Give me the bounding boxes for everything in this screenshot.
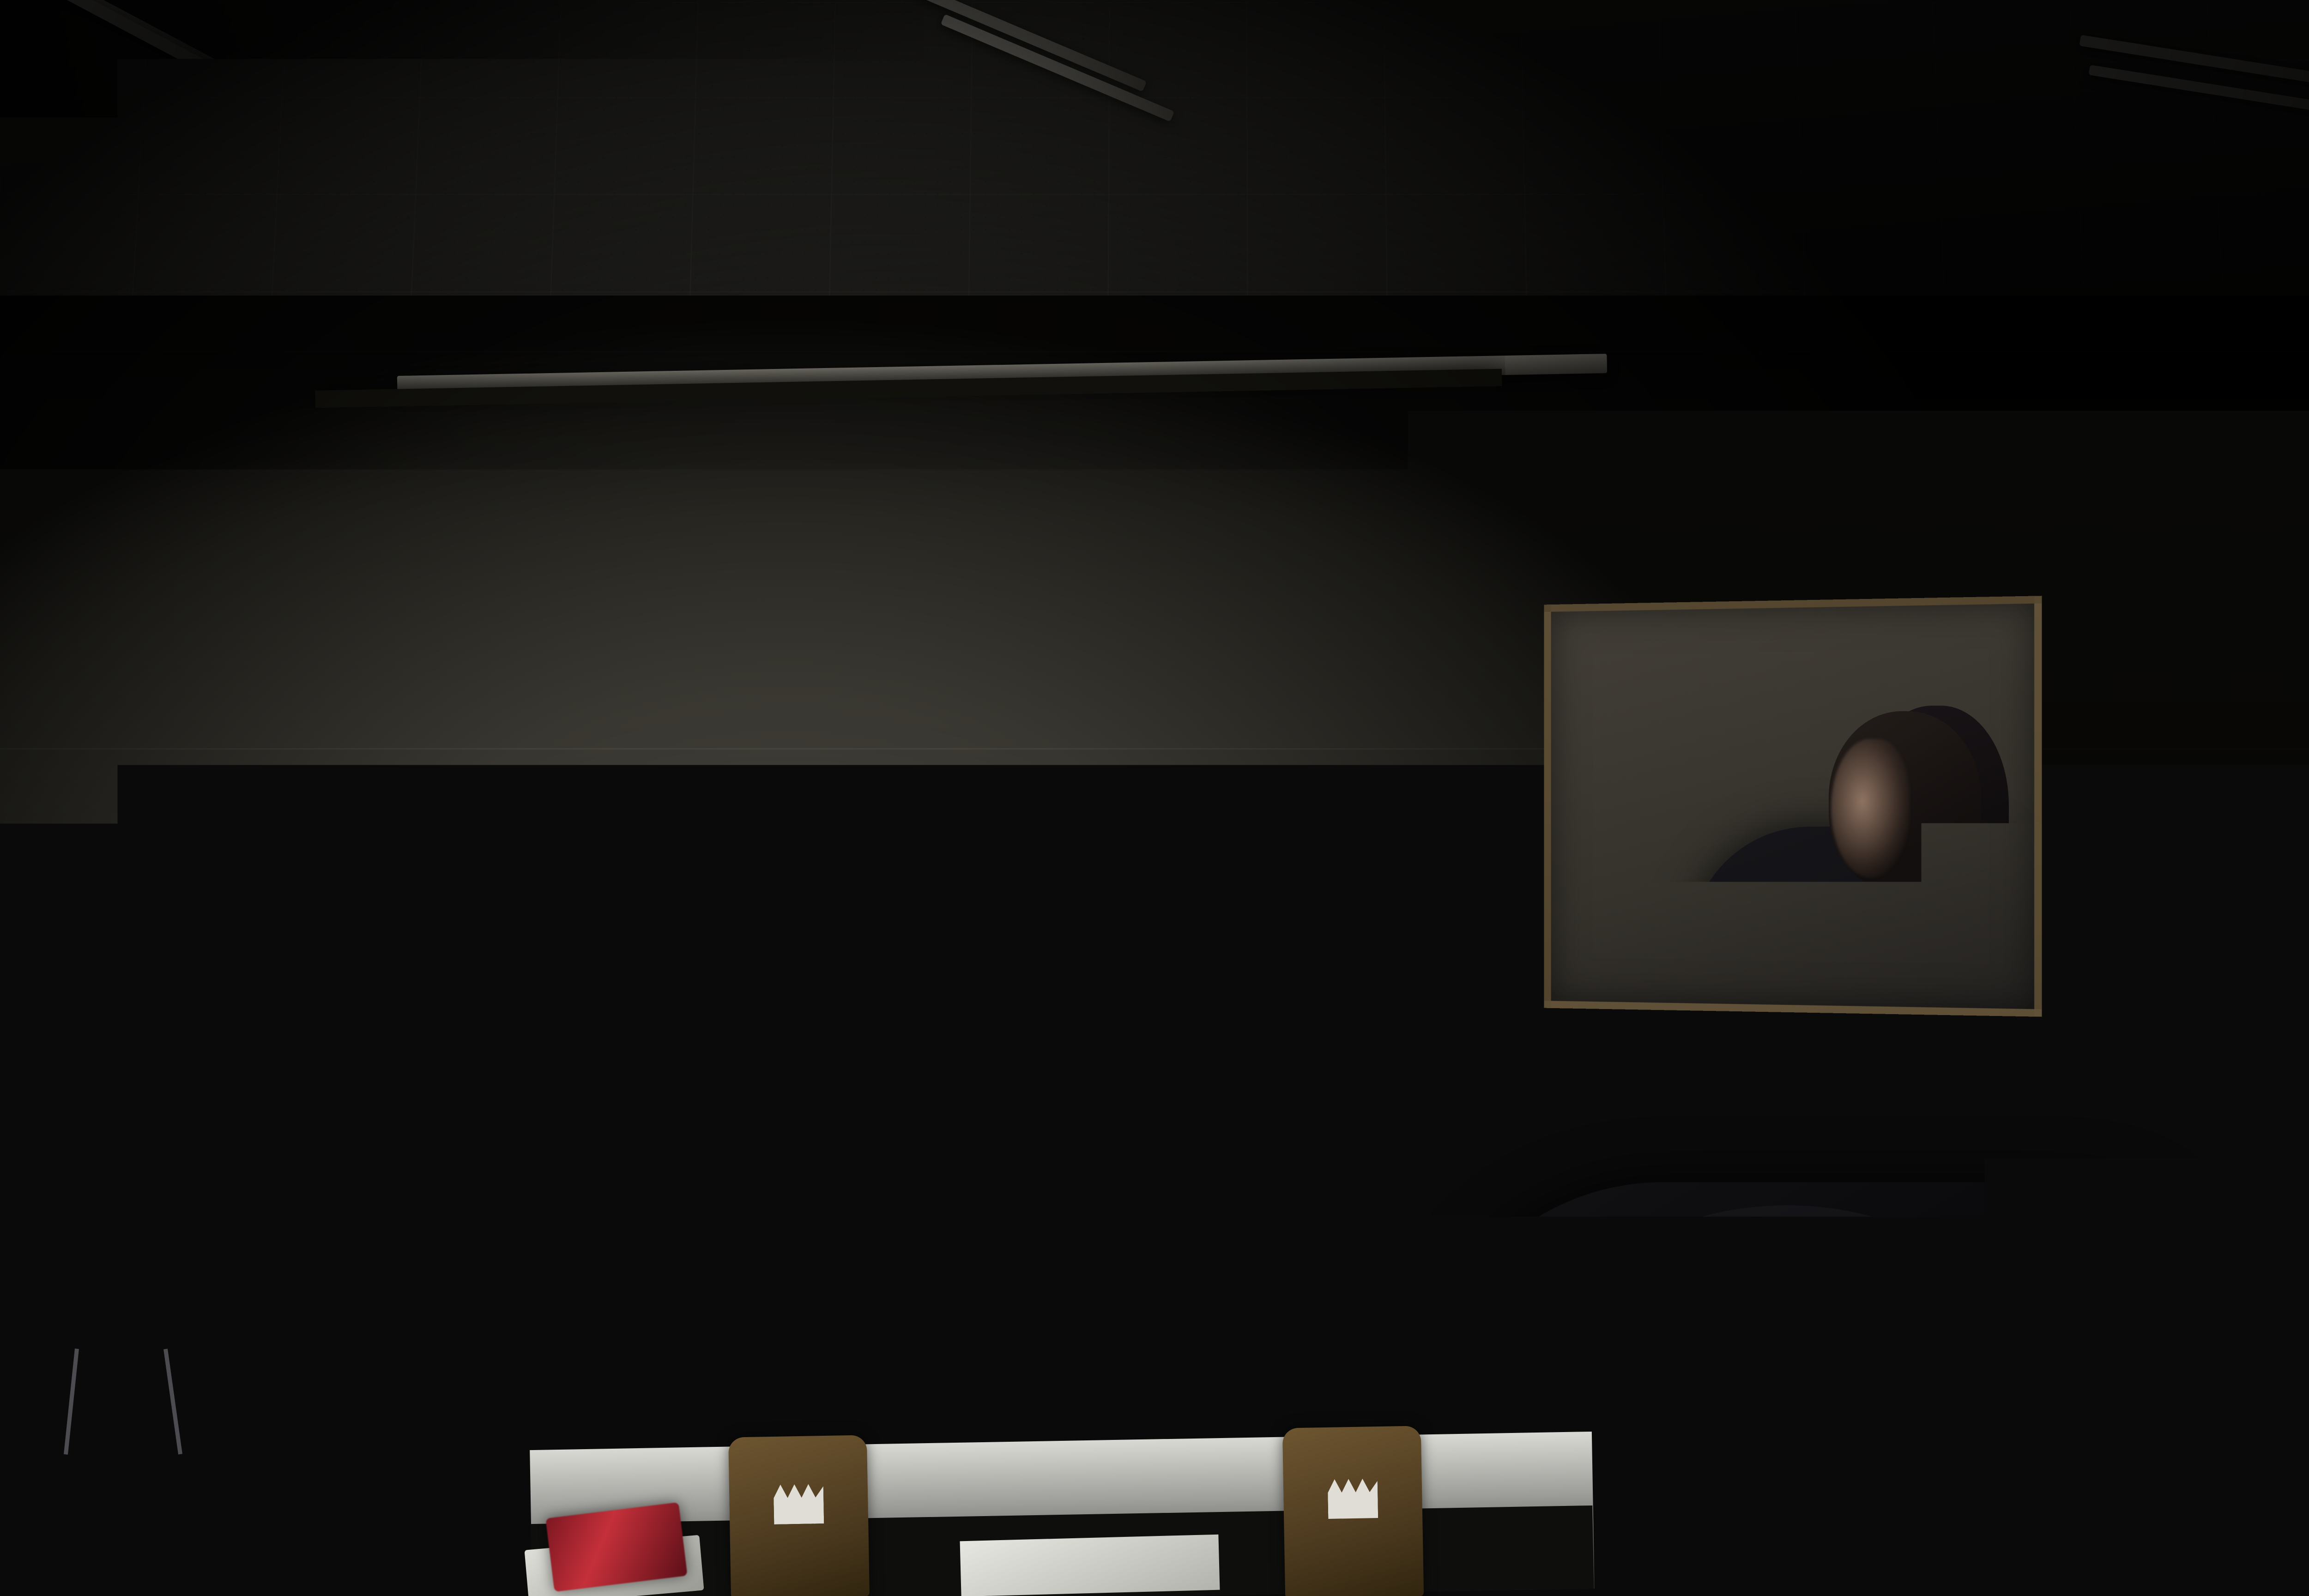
bullet-block: 전체밀도 - 155인/㏊: [947, 610, 1464, 659]
site-plan-drawing: [412, 553, 907, 957]
bullet-heading-label: 차별성: [962, 804, 1006, 825]
bullet-heading-label: 대상지크기: [957, 534, 1029, 555]
screen-surface: 1. 개요 - 대상지현황: [333, 392, 1506, 1278]
slide-subtitle: - 대상지현황: [459, 518, 555, 545]
bullet-heading-label: 전체밀도: [959, 617, 1017, 638]
tree-shape: [818, 1167, 874, 1218]
slide-title: 1. 개요: [412, 489, 472, 516]
chair-handle-cutout: [143, 1478, 193, 1519]
bullet-dot-icon: [948, 685, 958, 695]
chair: [1282, 1426, 1424, 1596]
bullet-dot-icon: [947, 623, 957, 634]
stool: [14, 1325, 208, 1353]
chair-handle-cutout: [1328, 1478, 1378, 1519]
chair-handle-cutout: [774, 1484, 824, 1524]
presenter-face: [1831, 739, 1910, 877]
bullet-dot-icon: [950, 810, 960, 820]
truck-shape: [966, 1192, 996, 1211]
bullet-heading-label: 인접대지현황: [960, 679, 1046, 700]
bullet-block: 인접대지현황 동측 - 강 서측 - 제2종일반주거지역 남측 - 제2종일반주…: [948, 671, 1467, 785]
tree-shape: [1003, 1153, 1096, 1210]
ledge-object: [152, 1059, 231, 1070]
chair: [91, 1426, 246, 1596]
hill-shape: [1144, 1141, 1506, 1263]
document-on-table: [960, 1535, 1220, 1596]
landscape-photo-band: [346, 1104, 1506, 1278]
bullet-block: 대상지크기 1.2KM X 1.2KM 남측 - 4KM: [945, 526, 1463, 598]
slide-bullets: 대상지크기 1.2KM X 1.2KM 남측 - 4KM 전체밀도 - 155인…: [945, 526, 1469, 909]
bullet-block: 차별성 - 저밀도지역 - 생태보건형 환경 친화적 도시 - 보행자중심의도시: [950, 796, 1469, 888]
paper-notes: [1819, 965, 1899, 1057]
projection-screen: 1. 개요 - 대상지현황: [315, 369, 1518, 1296]
riverbank-shape: [346, 1167, 847, 1278]
presentation-slide: 1. 개요 - 대상지현황: [333, 392, 1506, 1278]
chair: [728, 1435, 870, 1596]
lecture-room-photo: 1. 개요 - 대상지현황: [0, 0, 2309, 1596]
snowflake-logo-icon: ❄: [1912, 1275, 1951, 1313]
bullet-dot-icon: [945, 541, 955, 551]
hood: [1579, 1205, 1995, 1464]
